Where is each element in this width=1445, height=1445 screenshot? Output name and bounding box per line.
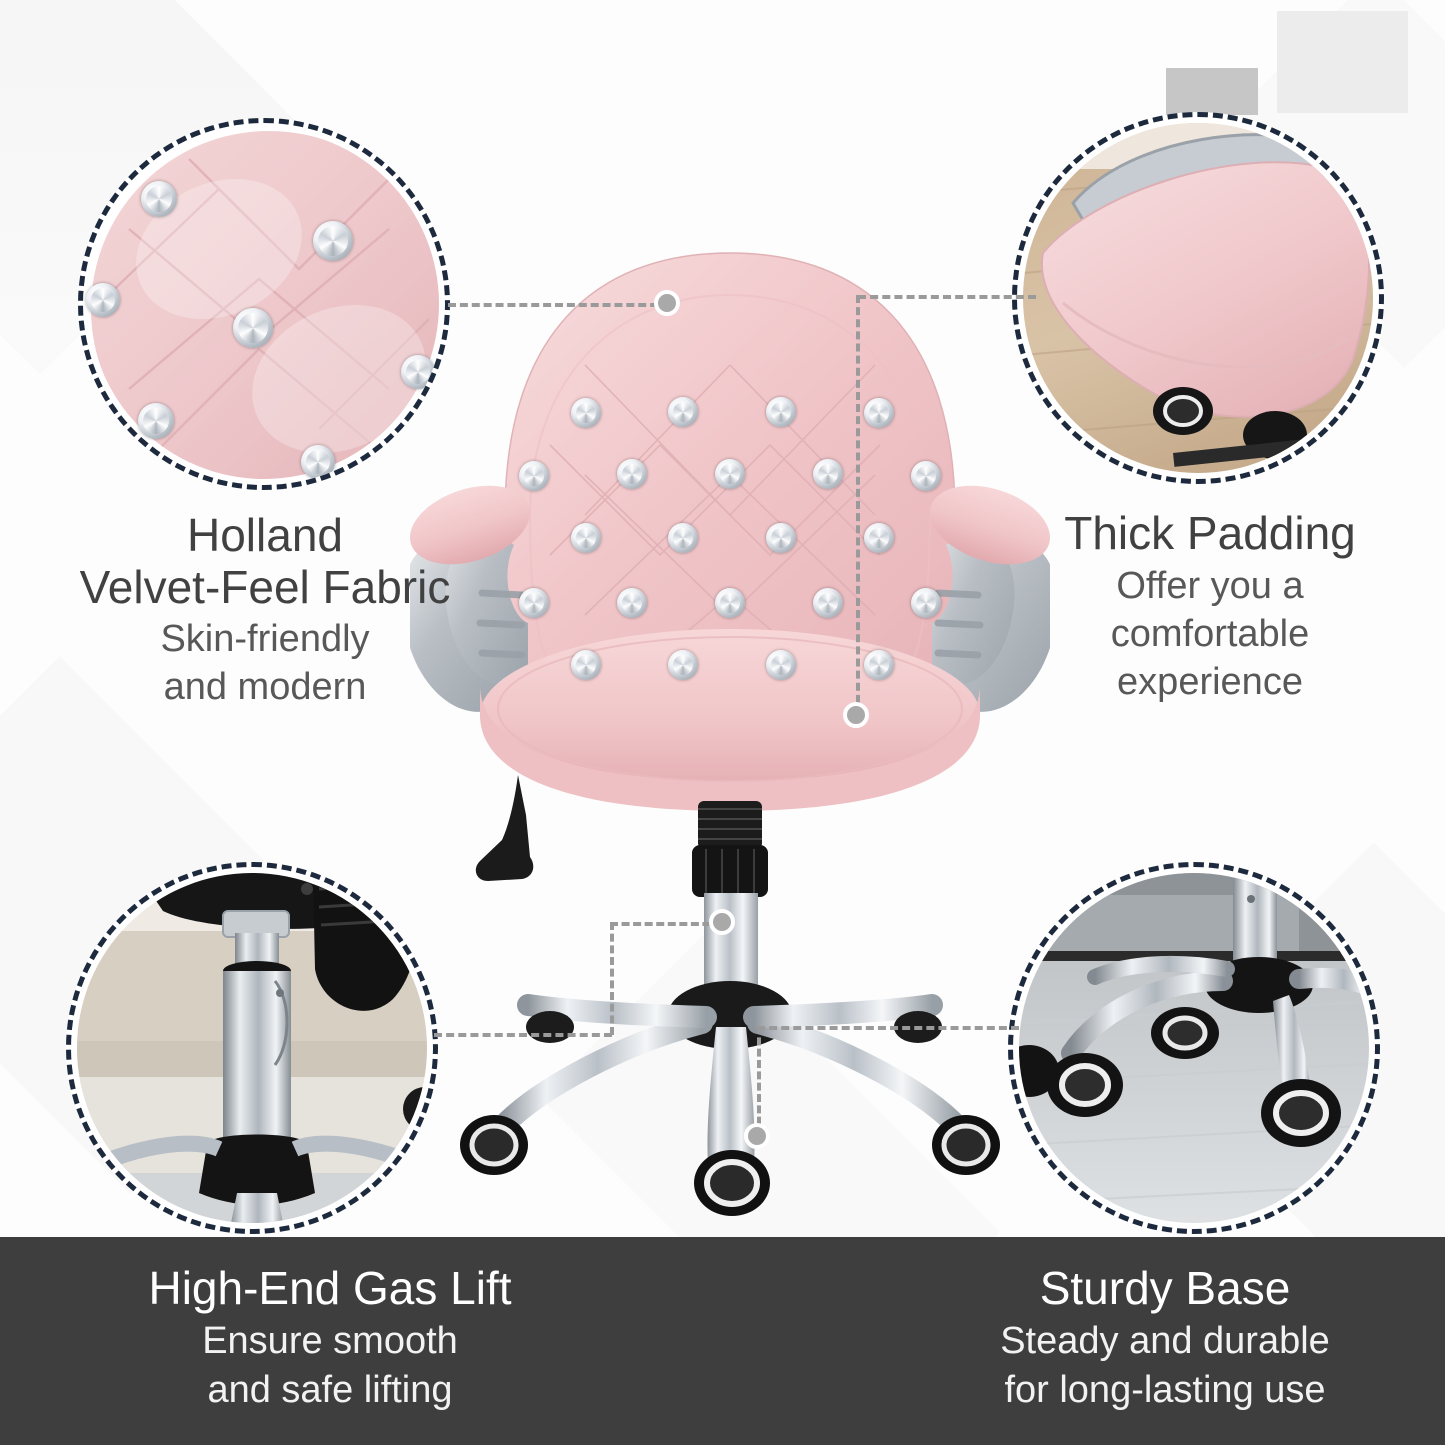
leader-line-gaslift-high <box>610 922 722 926</box>
crystal-button <box>571 650 601 680</box>
leader-line-padding-down <box>856 295 860 715</box>
gas-lift-closeup-image <box>77 873 427 1223</box>
feature-title-fabric-line2: Velvet-Feel Fabric <box>30 562 500 614</box>
decorative-rect-light <box>1277 11 1408 113</box>
crystal-button <box>233 308 273 348</box>
crystal-button <box>301 445 335 479</box>
crystal-button <box>571 398 601 428</box>
feature-title-padding: Thick Padding <box>1000 508 1420 560</box>
detail-inset-fabric <box>78 118 450 490</box>
crystal-button <box>617 588 647 618</box>
crystal-button <box>864 523 894 553</box>
infographic-canvas: Holland Velvet-Feel Fabric Skin-friendly… <box>0 0 1445 1445</box>
crystal-button <box>864 650 894 680</box>
feature-text-padding: Thick Padding Offer you a comfortable ex… <box>1000 508 1420 704</box>
crystal-button <box>715 588 745 618</box>
feature-subtitle-sturdy-base-line1: Steady and durable <box>900 1320 1430 1364</box>
crystal-button <box>86 283 120 317</box>
crystal-button <box>911 588 941 618</box>
crystal-button <box>141 181 177 217</box>
feature-subtitle-padding-line3: experience <box>1000 660 1420 704</box>
leader-line-base-down <box>757 1026 761 1136</box>
feature-title-gas-lift: High-End Gas Lift <box>10 1263 650 1314</box>
crystal-button <box>766 650 796 680</box>
crystal-button <box>571 523 601 553</box>
crystal-button <box>813 459 843 489</box>
detail-inset-gas-lift <box>66 862 438 1234</box>
crystal-button <box>617 459 647 489</box>
feature-subtitle-fabric-line2: and modern <box>30 665 500 709</box>
decorative-rect-gray <box>1166 68 1258 115</box>
crystal-button <box>766 397 796 427</box>
crystal-button <box>911 461 941 491</box>
feature-title-sturdy-base: Sturdy Base <box>900 1263 1430 1314</box>
feature-text-sturdy-base: Sturdy Base Steady and durable for long-… <box>900 1263 1430 1413</box>
crystal-button <box>813 588 843 618</box>
crystal-button <box>401 355 435 389</box>
feature-title-fabric-line1: Holland <box>30 510 500 562</box>
crystal-button <box>864 398 894 428</box>
leader-line-base <box>757 1026 1019 1030</box>
crystal-button <box>313 221 353 261</box>
bottom-feature-banner: High-End Gas Lift Ensure smooth and safe… <box>0 1237 1445 1445</box>
feature-subtitle-fabric-line1: Skin-friendly <box>30 617 500 661</box>
leader-dot-base <box>744 1123 770 1149</box>
leader-line-fabric <box>448 303 670 307</box>
leader-line-gaslift-up <box>610 922 614 1035</box>
leader-dot-fabric <box>654 290 680 316</box>
crystal-button <box>138 403 174 439</box>
padding-closeup-image <box>1023 123 1373 473</box>
feature-subtitle-padding-line2: comfortable <box>1000 612 1420 656</box>
base-closeup-image <box>1019 873 1369 1223</box>
feature-subtitle-gas-lift-line2: and safe lifting <box>10 1369 650 1413</box>
crystal-button <box>766 523 796 553</box>
leader-line-padding-top <box>858 295 1036 299</box>
crystal-button <box>715 459 745 489</box>
feature-subtitle-padding-line1: Offer you a <box>1000 564 1420 608</box>
gas-lift-collar <box>692 845 768 897</box>
crystal-button <box>519 461 549 491</box>
crystal-button <box>668 397 698 427</box>
leader-dot-padding <box>843 702 869 728</box>
feature-subtitle-sturdy-base-line2: for long-lasting use <box>900 1369 1430 1413</box>
leader-dot-gaslift <box>709 909 735 935</box>
feature-subtitle-gas-lift-line1: Ensure smooth <box>10 1320 650 1364</box>
crystal-button <box>519 588 549 618</box>
product-chair-illustration <box>410 215 1050 1225</box>
detail-inset-base <box>1008 862 1380 1234</box>
leader-line-gaslift-low <box>434 1033 612 1037</box>
feature-text-fabric: Holland Velvet-Feel Fabric Skin-friendly… <box>30 510 500 709</box>
height-adjust-lever <box>476 775 533 881</box>
detail-inset-padding <box>1012 112 1384 484</box>
feature-text-gas-lift: High-End Gas Lift Ensure smooth and safe… <box>10 1263 650 1413</box>
crystal-button <box>668 650 698 680</box>
crystal-button <box>668 523 698 553</box>
